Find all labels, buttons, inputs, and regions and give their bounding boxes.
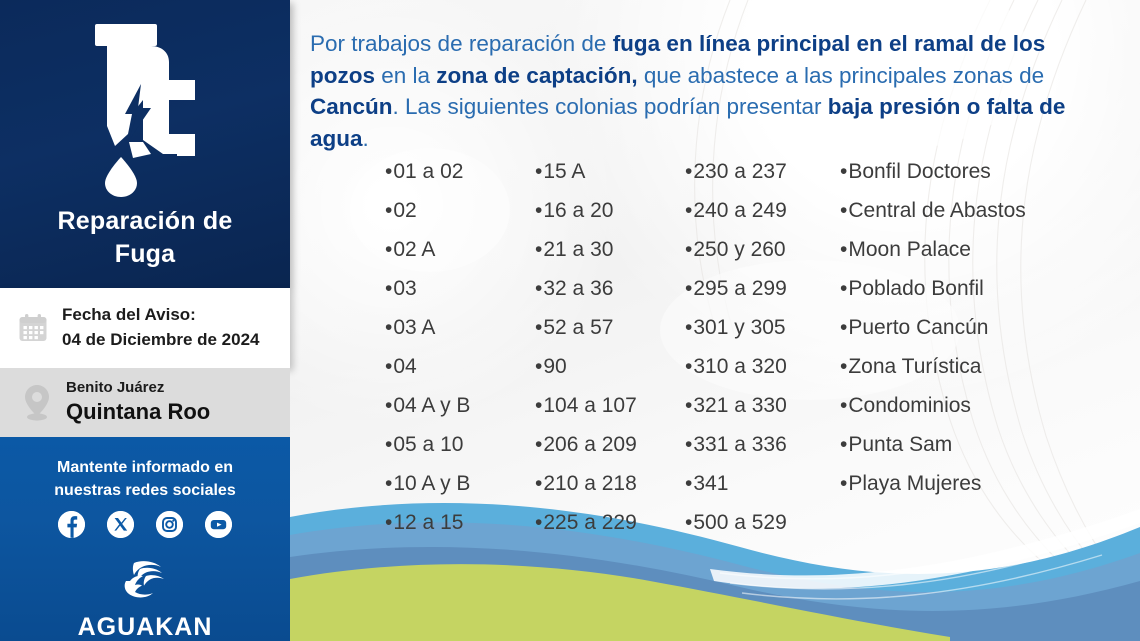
bullet-icon: • [535, 230, 542, 269]
list-item: •16 a 20 [535, 191, 685, 230]
list-item: •Poblado Bonfil [840, 269, 1105, 308]
notice-date-label: Fecha del Aviso: [62, 303, 260, 328]
bullet-icon: • [535, 425, 542, 464]
list-item-label: 321 a 330 [693, 394, 786, 417]
list-item: •04 [385, 347, 535, 386]
bullet-icon: • [535, 269, 542, 308]
list-item: •02 [385, 191, 535, 230]
sidebar-header-panel: Reparación de Fuga [0, 0, 290, 288]
list-item-label: 230 a 237 [693, 160, 786, 183]
bullet-icon: • [535, 464, 542, 503]
bullet-icon: • [385, 269, 392, 308]
list-item-label: 04 A y B [393, 394, 470, 417]
list-item-label: 03 [393, 277, 416, 300]
list-item: •32 a 36 [535, 269, 685, 308]
colony-columns: •01 a 02•02•02 A•03•03 A•04•04 A y B•05 … [385, 152, 1105, 542]
instagram-icon[interactable] [156, 511, 183, 538]
location-municipality: Benito Juárez [66, 379, 210, 397]
bullet-icon: • [535, 347, 542, 386]
list-item-label: 16 a 20 [543, 199, 613, 222]
bullet-icon: • [535, 152, 542, 191]
list-item-label: 341 [693, 472, 728, 495]
bullet-icon: • [840, 386, 847, 425]
list-item-label: Poblado Bonfil [848, 277, 983, 300]
intro-text: Por trabajos de reparación de [310, 31, 613, 56]
list-item: •03 [385, 269, 535, 308]
list-item: •341 [685, 464, 840, 503]
list-item: •21 a 30 [535, 230, 685, 269]
location-state: Quintana Roo [66, 398, 210, 426]
broken-pipe-leak-icon [85, 22, 205, 197]
list-item-label: 01 a 02 [393, 160, 463, 183]
intro-text: en la [375, 63, 436, 88]
list-item: •301 y 305 [685, 308, 840, 347]
list-item: •90 [535, 347, 685, 386]
bullet-icon: • [685, 152, 692, 191]
bullet-icon: • [685, 347, 692, 386]
bullet-icon: • [535, 191, 542, 230]
list-item-label: 206 a 209 [543, 433, 636, 456]
bullet-icon: • [685, 425, 692, 464]
list-item-label: 250 y 260 [693, 238, 785, 261]
list-item: •Central de Abastos [840, 191, 1105, 230]
list-item: •310 a 320 [685, 347, 840, 386]
list-item: •206 a 209 [535, 425, 685, 464]
bullet-icon: • [840, 152, 847, 191]
map-pin-icon [22, 384, 52, 422]
list-item: •04 A y B [385, 386, 535, 425]
bullet-icon: • [685, 386, 692, 425]
bullet-icon: • [840, 230, 847, 269]
list-item: •210 a 218 [535, 464, 685, 503]
list-item: •52 a 57 [535, 308, 685, 347]
bullet-icon: • [840, 191, 847, 230]
list-item-label: 240 a 249 [693, 199, 786, 222]
list-item: •Zona Turística [840, 347, 1105, 386]
bullet-icon: • [385, 347, 392, 386]
youtube-icon[interactable] [205, 511, 232, 538]
list-item: •Bonfil Doctores [840, 152, 1105, 191]
list-item: •10 A y B [385, 464, 535, 503]
intro-text: . [363, 126, 369, 151]
intro-emphasis: Cancún [310, 94, 393, 119]
bullet-icon: • [685, 464, 692, 503]
bullet-icon: • [385, 464, 392, 503]
list-item-label: 02 A [393, 238, 435, 261]
social-icon-row [0, 511, 290, 538]
list-item: •230 a 237 [685, 152, 840, 191]
list-item-label: Condominios [848, 394, 971, 417]
list-item-label: 90 [543, 355, 566, 378]
bullet-icon: • [535, 308, 542, 347]
list-item: •500 a 529 [685, 503, 840, 542]
list-item: •15 A [535, 152, 685, 191]
bullet-icon: • [385, 152, 392, 191]
list-item-label: Punta Sam [848, 433, 952, 456]
list-item-label: Moon Palace [848, 238, 971, 261]
aguakan-water-outage-notice: Reparación de Fuga F [0, 0, 1140, 641]
colony-column-2: •15 A•16 a 20•21 a 30•32 a 36•52 a 57•90… [535, 152, 685, 542]
list-item: •05 a 10 [385, 425, 535, 464]
bullet-icon: • [535, 503, 542, 542]
colony-column-1: •01 a 02•02•02 A•03•03 A•04•04 A y B•05 … [385, 152, 535, 542]
list-item-label: 331 a 336 [693, 433, 786, 456]
list-item-label: Playa Mujeres [848, 472, 981, 495]
list-item: •Punta Sam [840, 425, 1105, 464]
list-item-label: 52 a 57 [543, 316, 613, 339]
list-item-label: Bonfil Doctores [848, 160, 990, 183]
list-item-label: 301 y 305 [693, 316, 785, 339]
list-item: •01 a 02 [385, 152, 535, 191]
list-item-label: 02 [393, 199, 416, 222]
aguakan-wave-logo [116, 555, 174, 607]
list-item: •225 a 229 [535, 503, 685, 542]
intro-paragraph: Por trabajos de reparación de fuga en lí… [310, 28, 1110, 154]
list-item-label: Zona Turística [848, 355, 981, 378]
location-text: Benito Juárez Quintana Roo [66, 379, 210, 426]
list-item-label: Puerto Cancún [848, 316, 988, 339]
list-item-label: 03 A [393, 316, 435, 339]
list-item: •Playa Mujeres [840, 464, 1105, 503]
bullet-icon: • [685, 308, 692, 347]
bullet-icon: • [685, 503, 692, 542]
intro-text: que abastece a las principales zonas de [638, 63, 1045, 88]
notice-date-value: 04 de Diciembre de 2024 [62, 328, 260, 353]
list-item-label: 310 a 320 [693, 355, 786, 378]
bullet-icon: • [385, 308, 392, 347]
colony-column-4: •Bonfil Doctores•Central de Abastos•Moon… [840, 152, 1105, 542]
intro-text: . Las siguientes colonias podrían presen… [393, 94, 828, 119]
list-item: •03 A [385, 308, 535, 347]
list-item: •104 a 107 [535, 386, 685, 425]
brand-name: AGUAKAN [0, 613, 290, 641]
list-item: •295 a 299 [685, 269, 840, 308]
bullet-icon: • [385, 191, 392, 230]
list-item-label: 12 a 15 [393, 511, 463, 534]
brand-logo: AGUAKAN [0, 555, 290, 641]
location-panel: Benito Juárez Quintana Roo [0, 368, 290, 437]
sidebar-title-line2: Fuga [0, 238, 290, 271]
bullet-icon: • [385, 386, 392, 425]
sidebar-title-line1: Reparación de [0, 205, 290, 238]
list-item-label: 500 a 529 [693, 511, 786, 534]
bullet-icon: • [840, 347, 847, 386]
bullet-icon: • [385, 425, 392, 464]
bullet-icon: • [685, 230, 692, 269]
list-item: •331 a 336 [685, 425, 840, 464]
social-heading-line1: Mantente informado en [0, 456, 290, 479]
list-item: •Moon Palace [840, 230, 1105, 269]
social-heading-line2: nuestras redes sociales [0, 479, 290, 502]
list-item-label: 295 a 299 [693, 277, 786, 300]
bullet-icon: • [535, 386, 542, 425]
list-item-label: 32 a 36 [543, 277, 613, 300]
list-item-label: 21 a 30 [543, 238, 613, 261]
bullet-icon: • [840, 464, 847, 503]
facebook-icon[interactable] [58, 511, 85, 538]
list-item-label: Central de Abastos [848, 199, 1025, 222]
list-item: •Puerto Cancún [840, 308, 1105, 347]
bullet-icon: • [840, 308, 847, 347]
list-item: •321 a 330 [685, 386, 840, 425]
social-heading: Mantente informado en nuestras redes soc… [0, 456, 290, 502]
list-item: •12 a 15 [385, 503, 535, 542]
bullet-icon: • [840, 425, 847, 464]
colony-column-3: •230 a 237•240 a 249•250 y 260•295 a 299… [685, 152, 840, 542]
list-item: •02 A [385, 230, 535, 269]
intro-emphasis: zona de captación, [436, 63, 637, 88]
list-item: •Condominios [840, 386, 1105, 425]
bullet-icon: • [385, 230, 392, 269]
bullet-icon: • [385, 503, 392, 542]
list-item-label: 210 a 218 [543, 472, 636, 495]
list-item: •240 a 249 [685, 191, 840, 230]
bullet-icon: • [685, 269, 692, 308]
bullet-icon: • [840, 269, 847, 308]
list-item-label: 04 [393, 355, 416, 378]
x-twitter-icon[interactable] [107, 511, 134, 538]
notice-date-text: Fecha del Aviso: 04 de Diciembre de 2024 [62, 303, 260, 352]
list-item-label: 104 a 107 [543, 394, 636, 417]
sidebar: Reparación de Fuga F [0, 0, 290, 641]
list-item: •250 y 260 [685, 230, 840, 269]
sidebar-social-panel: Mantente informado en nuestras redes soc… [0, 437, 290, 641]
calendar-icon [18, 313, 48, 343]
list-item-label: 05 a 10 [393, 433, 463, 456]
bullet-icon: • [685, 191, 692, 230]
list-item-label: 15 A [543, 160, 585, 183]
list-item-label: 10 A y B [393, 472, 470, 495]
sidebar-title: Reparación de Fuga [0, 205, 290, 271]
notice-date-panel: Fecha del Aviso: 04 de Diciembre de 2024 [0, 288, 290, 368]
list-item-label: 225 a 229 [543, 511, 636, 534]
